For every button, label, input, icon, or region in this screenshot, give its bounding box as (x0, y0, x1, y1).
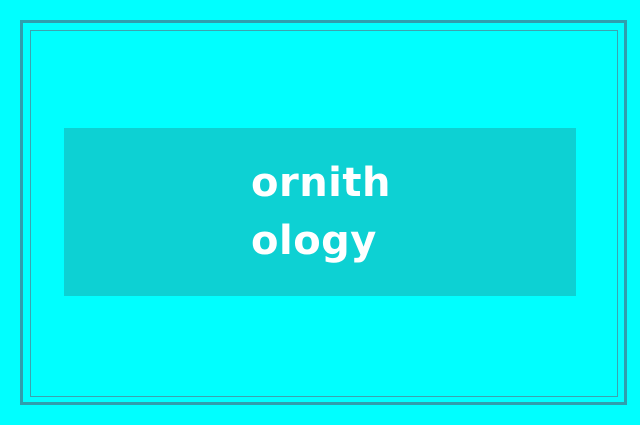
headline-line-1: ornith (251, 154, 391, 212)
card-canvas: ornith ology (0, 0, 640, 425)
text-panel: ornith ology (64, 128, 576, 296)
headline-line-2: ology (251, 212, 391, 270)
headline-text-block: ornith ology (249, 154, 391, 270)
